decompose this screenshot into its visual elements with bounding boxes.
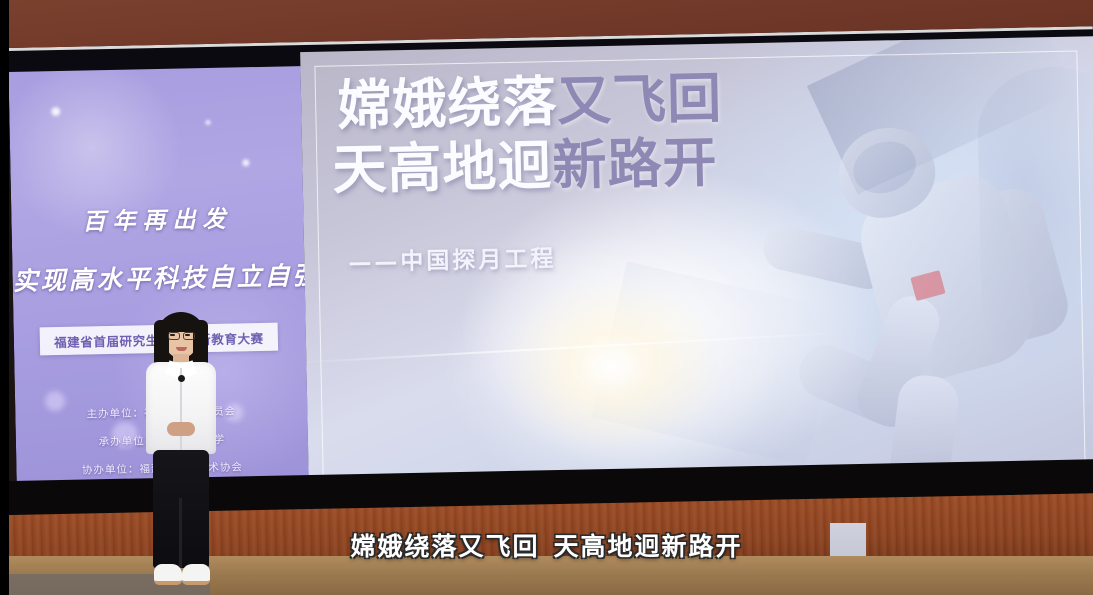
slide-title-line-2-accent: 新路开: [552, 131, 718, 197]
slide-subtitle: ——中国探月工程: [348, 239, 557, 277]
banner-script-line-2: 实现高水平科技自立自强: [12, 256, 305, 298]
slide-title-line-2: 天高地迥新路开: [332, 136, 718, 198]
left-frame-edge: [0, 0, 9, 595]
slide-title-line-1-accent: 又飞回: [557, 67, 723, 133]
slide-title-line-2-white: 天高地迥: [332, 134, 553, 201]
screenshot-root: 百年再出发 实现高水平科技自立自强 福建省首届研究生科普创新教育大赛 主办单位：…: [0, 0, 1093, 595]
hands: [167, 422, 195, 436]
sneaker-left: [154, 564, 182, 585]
eye-right: [185, 334, 190, 336]
sneaker-right: [182, 564, 210, 585]
slide-title-line-1-white: 嫦娥绕落: [337, 70, 558, 137]
presenter: [134, 312, 226, 595]
slide-title-line-1: 嫦娥绕落又飞回: [337, 72, 723, 134]
eye-left: [170, 334, 175, 336]
banner-script-line-1: 百年再出发: [11, 198, 304, 238]
presentation-slide: 嫦娥绕落又飞回 天高地迥新路开 ——中国探月工程: [300, 36, 1093, 504]
trouser-leg-gap: [179, 498, 182, 568]
lapel-microphone-icon: [178, 375, 185, 382]
